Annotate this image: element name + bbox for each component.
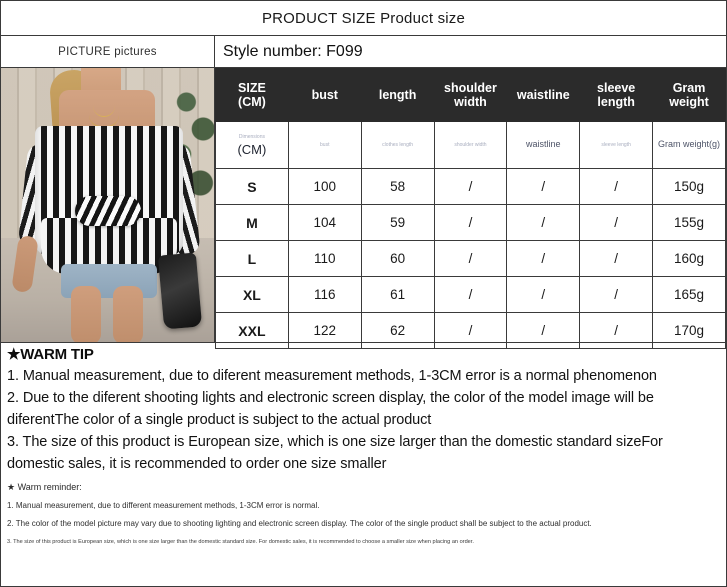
product-size-sheet: PRODUCT SIZE Product size PICTURE pictur… bbox=[0, 0, 727, 587]
subheader-bust: bust bbox=[288, 122, 361, 169]
col-header-gram-line1: Gram bbox=[673, 81, 706, 95]
table-row: M 104 59 / / / 155g bbox=[216, 205, 726, 241]
subheader-size-cm: (CM) bbox=[218, 142, 286, 157]
page-title: PRODUCT SIZE Product size bbox=[262, 10, 465, 27]
cell-gram: 170g bbox=[653, 313, 726, 349]
table-row: XXL 122 62 / / / 170g bbox=[216, 313, 726, 349]
col-header-sleeve-line2: length bbox=[597, 95, 635, 109]
cell-shoulder: / bbox=[434, 169, 507, 205]
warm-reminder-line-1: 1. Manual measurement, due to different … bbox=[7, 500, 720, 513]
col-header-gram-line2: weight bbox=[669, 95, 709, 109]
cell-sleeve: / bbox=[580, 277, 653, 313]
cell-bust: 116 bbox=[288, 277, 361, 313]
table-row: L 110 60 / / / 160g bbox=[216, 241, 726, 277]
cell-gram: 150g bbox=[653, 169, 726, 205]
cell-gram: 155g bbox=[653, 205, 726, 241]
size-table: SIZE (CM) bust length shoulder width wai… bbox=[215, 68, 726, 349]
product-photo bbox=[1, 68, 214, 342]
cell-size: M bbox=[216, 205, 289, 241]
subheader-length: clothes length bbox=[361, 122, 434, 169]
col-header-length: length bbox=[361, 69, 434, 122]
cell-waistline: / bbox=[507, 313, 580, 349]
subheader-size: Dimensions (CM) bbox=[216, 122, 289, 169]
subheader-sleeve: sleeve length bbox=[580, 122, 653, 169]
necklace-second-icon bbox=[89, 108, 119, 127]
cell-waistline: / bbox=[507, 241, 580, 277]
model-leg-right bbox=[113, 286, 143, 342]
style-number: Style number: F099 bbox=[223, 43, 363, 61]
col-header-shoulder-line2: width bbox=[454, 95, 487, 109]
warm-tip-line-3: 3. The size of this product is European … bbox=[7, 431, 720, 475]
cell-sleeve: / bbox=[580, 241, 653, 277]
cell-length: 58 bbox=[361, 169, 434, 205]
cell-size: S bbox=[216, 169, 289, 205]
picture-label-cell: PICTURE pictures bbox=[1, 36, 215, 67]
subheader-sleeve-label: sleeve length bbox=[582, 142, 650, 148]
cell-sleeve: / bbox=[580, 313, 653, 349]
cell-length: 60 bbox=[361, 241, 434, 277]
subheader-length-label: clothes length bbox=[364, 142, 432, 148]
sheet-title-row: PRODUCT SIZE Product size bbox=[0, 0, 727, 36]
table-row: XL 116 61 / / / 165g bbox=[216, 277, 726, 313]
subheader-shoulder: shoulder width bbox=[434, 122, 507, 169]
subheader-gram: Gram weight(g) bbox=[653, 122, 726, 169]
model-arm-left bbox=[11, 235, 39, 293]
cell-waistline: / bbox=[507, 205, 580, 241]
size-table-subheader-row: Dimensions (CM) bust clothes length shou… bbox=[216, 122, 726, 169]
cell-size: XL bbox=[216, 277, 289, 313]
col-header-sleeve-line1: sleeve bbox=[597, 81, 635, 95]
handbag bbox=[158, 252, 202, 329]
col-header-size-line2: (CM) bbox=[238, 95, 266, 109]
col-header-waistline: waistline bbox=[507, 69, 580, 122]
model-leg-left bbox=[71, 286, 101, 342]
size-table-header-row: SIZE (CM) bust length shoulder width wai… bbox=[216, 69, 726, 122]
cell-length: 59 bbox=[361, 205, 434, 241]
cell-size: L bbox=[216, 241, 289, 277]
size-table-cell: SIZE (CM) bust length shoulder width wai… bbox=[215, 68, 726, 342]
subheader-waistline: waistline bbox=[507, 122, 580, 169]
belt-knot bbox=[75, 196, 141, 226]
cell-size: XXL bbox=[216, 313, 289, 349]
cell-bust: 100 bbox=[288, 169, 361, 205]
cell-gram: 165g bbox=[653, 277, 726, 313]
warm-reminder-heading: ★ Warm reminder: bbox=[7, 481, 720, 495]
warm-tip-section: ★WARM TIP 1. Manual measurement, due to … bbox=[0, 343, 727, 587]
subheader-shoulder-label: shoulder width bbox=[437, 142, 505, 148]
subheader-size-small: Dimensions bbox=[218, 134, 286, 140]
cell-gram: 160g bbox=[653, 241, 726, 277]
cell-shoulder: / bbox=[434, 241, 507, 277]
cell-sleeve: / bbox=[580, 169, 653, 205]
cell-shoulder: / bbox=[434, 205, 507, 241]
body-row: SIZE (CM) bust length shoulder width wai… bbox=[0, 68, 727, 343]
cell-waistline: / bbox=[507, 277, 580, 313]
warm-tip-line-2: 2. Due to the diferent shooting lights a… bbox=[7, 387, 720, 431]
col-header-shoulder-line1: shoulder bbox=[444, 81, 497, 95]
col-header-sleeve-length: sleeve length bbox=[580, 69, 653, 122]
col-header-size: SIZE (CM) bbox=[216, 69, 289, 122]
cell-waistline: / bbox=[507, 169, 580, 205]
cell-shoulder: / bbox=[434, 313, 507, 349]
size-table-head: SIZE (CM) bust length shoulder width wai… bbox=[216, 69, 726, 122]
cell-sleeve: / bbox=[580, 205, 653, 241]
cell-bust: 104 bbox=[288, 205, 361, 241]
cell-length: 62 bbox=[361, 313, 434, 349]
cell-bust: 122 bbox=[288, 313, 361, 349]
cell-bust: 110 bbox=[288, 241, 361, 277]
subheader-gram-label: Gram weight(g) bbox=[655, 139, 723, 150]
warm-tip-line-1: 1. Manual measurement, due to diferent m… bbox=[7, 365, 720, 387]
picture-label: PICTURE pictures bbox=[58, 46, 157, 58]
subheader-waistline-label: waistline bbox=[509, 139, 577, 150]
col-header-size-line1: SIZE bbox=[238, 81, 266, 95]
subheader-bust-label: bust bbox=[291, 142, 359, 148]
warm-reminder-line-2: 2. The color of the model picture may va… bbox=[7, 518, 720, 531]
style-number-cell: Style number: F099 bbox=[215, 36, 726, 67]
col-header-shoulder-width: shoulder width bbox=[434, 69, 507, 122]
cell-shoulder: / bbox=[434, 277, 507, 313]
col-header-bust: bust bbox=[288, 69, 361, 122]
cell-length: 61 bbox=[361, 277, 434, 313]
style-row: PICTURE pictures Style number: F099 bbox=[0, 36, 727, 68]
table-row: S 100 58 / / / 150g bbox=[216, 169, 726, 205]
warm-reminder-line-3: 3. The size of this product is European … bbox=[7, 538, 720, 547]
size-table-body: Dimensions (CM) bust clothes length shou… bbox=[216, 122, 726, 349]
model-figure bbox=[1, 68, 214, 342]
col-header-gram-weight: Gram weight bbox=[653, 69, 726, 122]
product-photo-cell bbox=[1, 68, 215, 342]
